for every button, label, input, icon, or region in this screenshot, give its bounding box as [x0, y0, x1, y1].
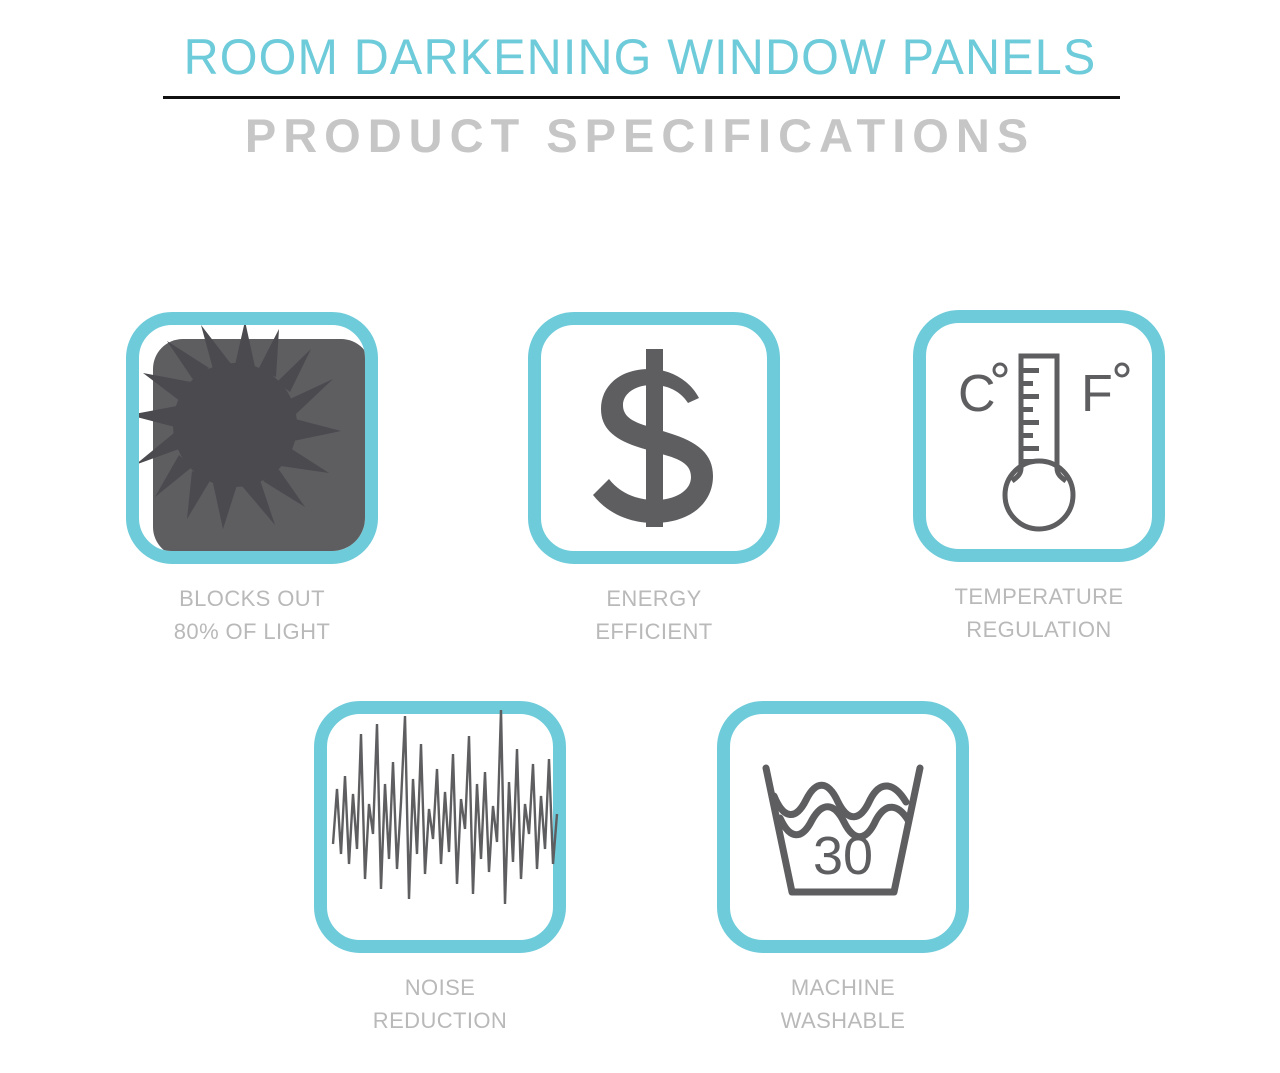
fahrenheit-degree-icon	[1116, 364, 1128, 376]
celsius-degree-icon	[994, 364, 1006, 376]
feature-caption: ENERGY EFFICIENT	[528, 582, 780, 648]
feature-card-temperature-regulation[interactable]: C F TEMPERATURE REGULATION	[913, 310, 1165, 646]
fahrenheit-label: F	[1081, 365, 1113, 423]
celsius-label: C	[958, 365, 996, 423]
feature-grid: BLOCKS OUT 80% OF LIGHT ENERGY EFFICIENT	[0, 0, 1280, 1073]
caption-line-2: 80% OF LIGHT	[126, 615, 378, 648]
feature-card-blocks-out-light[interactable]: BLOCKS OUT 80% OF LIGHT	[126, 312, 378, 648]
icon-clip: C F	[926, 323, 1152, 549]
feature-caption: TEMPERATURE REGULATION	[913, 580, 1165, 646]
caption-line-1: MACHINE	[791, 975, 895, 1000]
icon-tile	[528, 312, 780, 564]
caption-line-2: REGULATION	[913, 613, 1165, 646]
wash-temperature-label: 30	[813, 826, 873, 886]
icon-clip: 30	[730, 714, 956, 940]
icon-clip	[327, 714, 553, 940]
icon-clip	[541, 325, 767, 551]
blackout-sun-icon	[139, 325, 365, 551]
feature-caption: BLOCKS OUT 80% OF LIGHT	[126, 582, 378, 648]
icon-tile: 30	[717, 701, 969, 953]
icon-tile	[126, 312, 378, 564]
sound-waveform-icon	[327, 714, 553, 940]
caption-line-1: BLOCKS OUT	[179, 586, 325, 611]
feature-caption: MACHINE WASHABLE	[717, 971, 969, 1037]
wash-tub-icon: 30	[730, 714, 956, 940]
feature-card-energy-efficient[interactable]: ENERGY EFFICIENT	[528, 312, 780, 648]
caption-line-1: ENERGY	[606, 586, 701, 611]
feature-card-noise-reduction[interactable]: NOISE REDUCTION	[314, 701, 566, 1037]
caption-line-2: EFFICIENT	[528, 615, 780, 648]
feature-card-machine-washable[interactable]: 30 MACHINE WASHABLE	[717, 701, 969, 1037]
caption-line-1: TEMPERATURE	[954, 584, 1123, 609]
icon-tile	[314, 701, 566, 953]
thermometer-icon: C F	[926, 323, 1152, 549]
dollar-sign-icon	[541, 325, 767, 551]
icon-tile: C F	[913, 310, 1165, 562]
caption-line-1: NOISE	[405, 975, 475, 1000]
feature-caption: NOISE REDUCTION	[314, 971, 566, 1037]
caption-line-2: REDUCTION	[314, 1004, 566, 1037]
caption-line-2: WASHABLE	[717, 1004, 969, 1037]
icon-clip	[139, 325, 365, 551]
